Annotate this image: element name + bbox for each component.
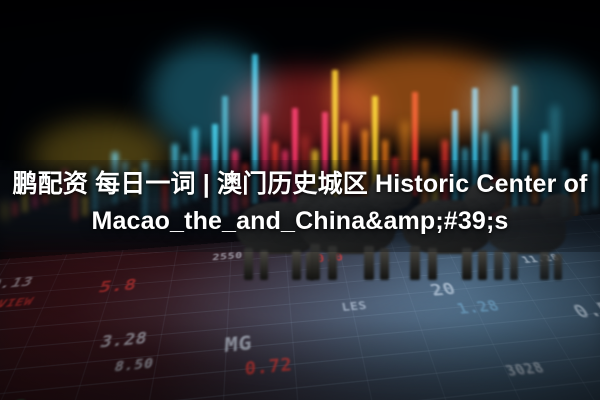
ticker-value: LES [341,299,369,314]
ticker-value: MG [224,332,252,358]
headline-text: 鹏配资 每日一词 | 澳门历史城区 Historic Center of Mac… [13,170,588,235]
page-title: 鹏配资 每日一词 | 澳门历史城区 Historic Center of Mac… [0,166,600,240]
ticker-value: 43.2 [0,395,31,400]
ticker-value: 20 [428,280,460,301]
ticker-value: 1.28 [455,298,503,318]
ticker-value: 8.50 [113,355,156,375]
ticker-value: 0.5 [569,299,600,323]
article-hero-image: 1.00.135.825500.02011.280.131.93VIEW3.28… [0,0,600,400]
ticker-value: 0.72 [245,355,294,380]
ticker-value: 3.28 [98,330,149,353]
